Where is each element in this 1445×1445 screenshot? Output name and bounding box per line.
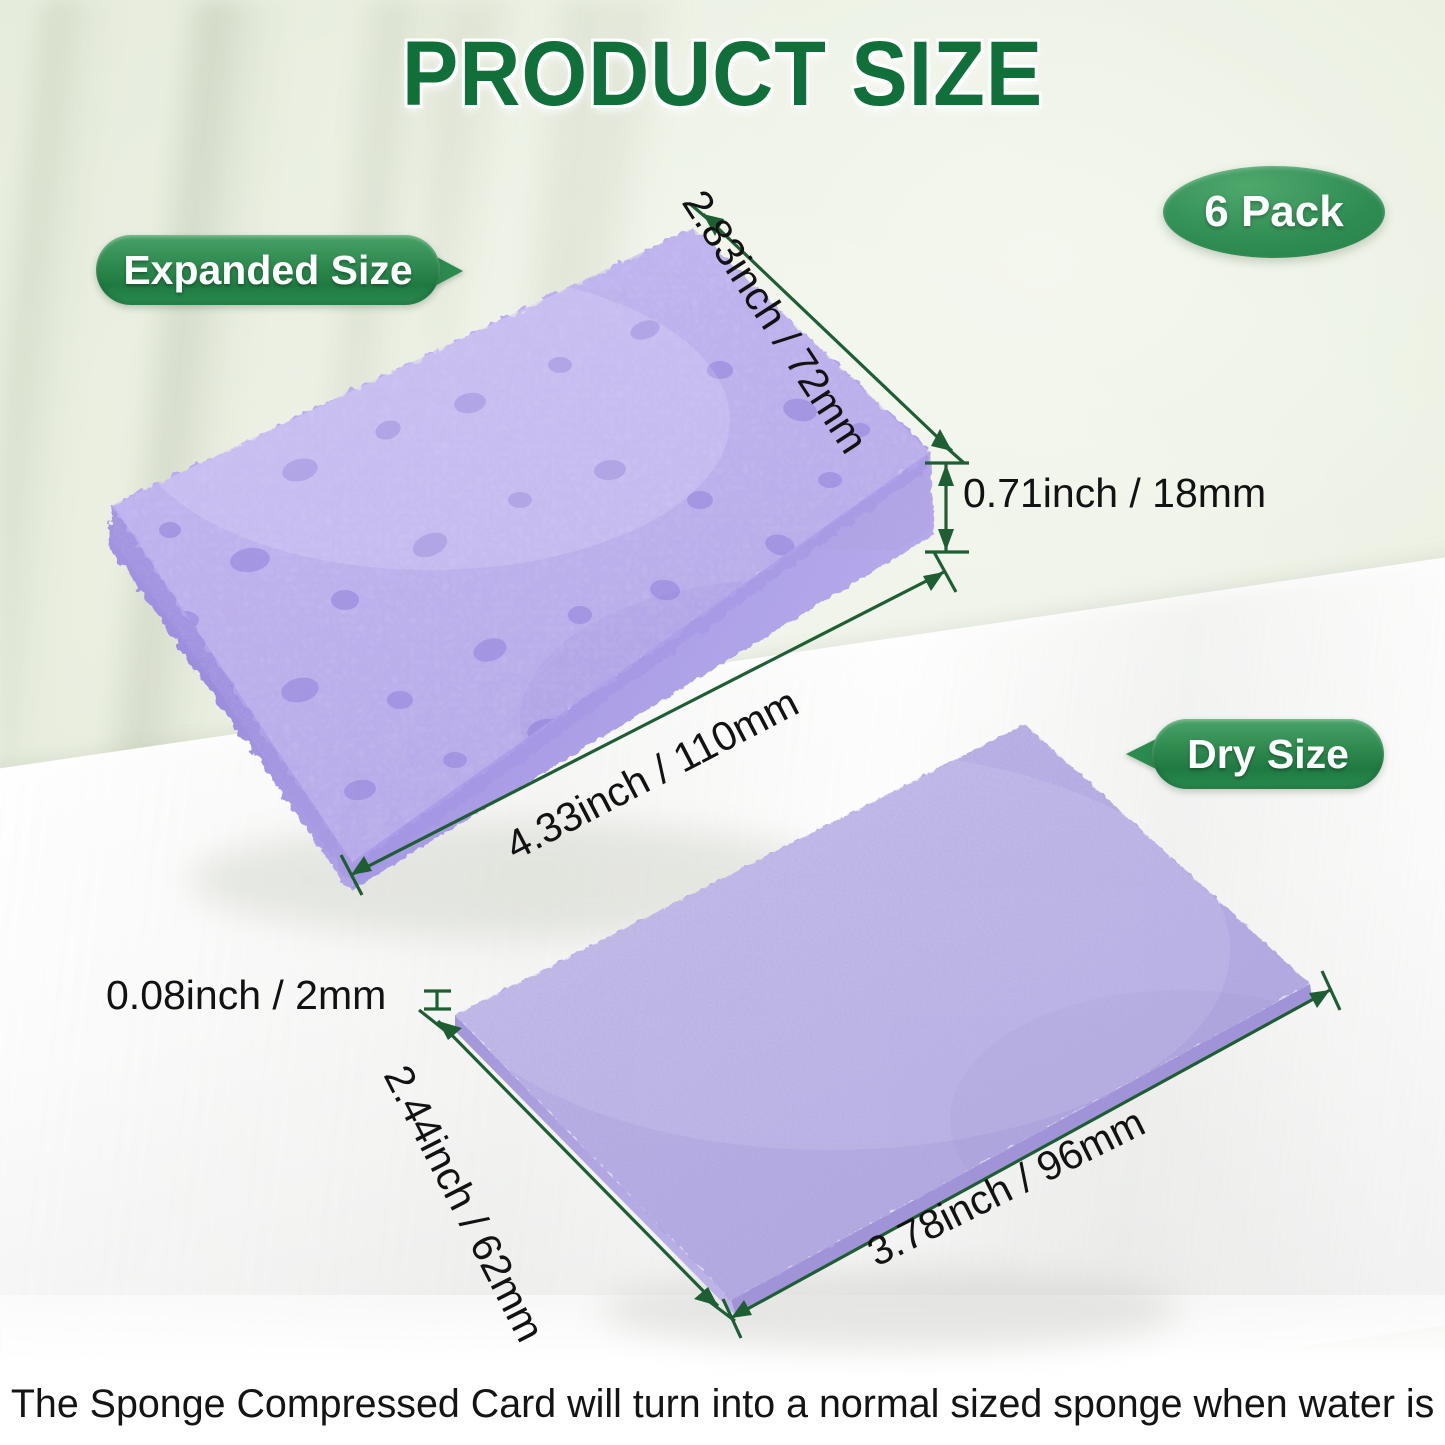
footer-caption: The Sponge Compressed Card will turn int… xyxy=(11,1382,1434,1427)
expanded-size-badge-label: Expanded Size xyxy=(123,247,412,294)
infographic-canvas: PRODUCT SIZE Expanded Size Dry Size 6 Pa… xyxy=(0,0,1445,1445)
dimension-label-expanded-height: 0.71inch / 18mm xyxy=(963,470,1266,517)
pack-count-label: 6 Pack xyxy=(1204,187,1343,237)
expanded-size-badge: Expanded Size xyxy=(96,235,440,305)
pack-count-badge: 6 Pack xyxy=(1163,166,1385,258)
dimension-label-dry-thickness: 0.08inch / 2mm xyxy=(106,972,386,1019)
page-title: PRODUCT SIZE xyxy=(58,22,1387,127)
dry-size-badge-label: Dry Size xyxy=(1187,731,1349,778)
dry-card-shadow xyxy=(600,1270,1180,1350)
dry-size-badge: Dry Size xyxy=(1152,719,1384,789)
